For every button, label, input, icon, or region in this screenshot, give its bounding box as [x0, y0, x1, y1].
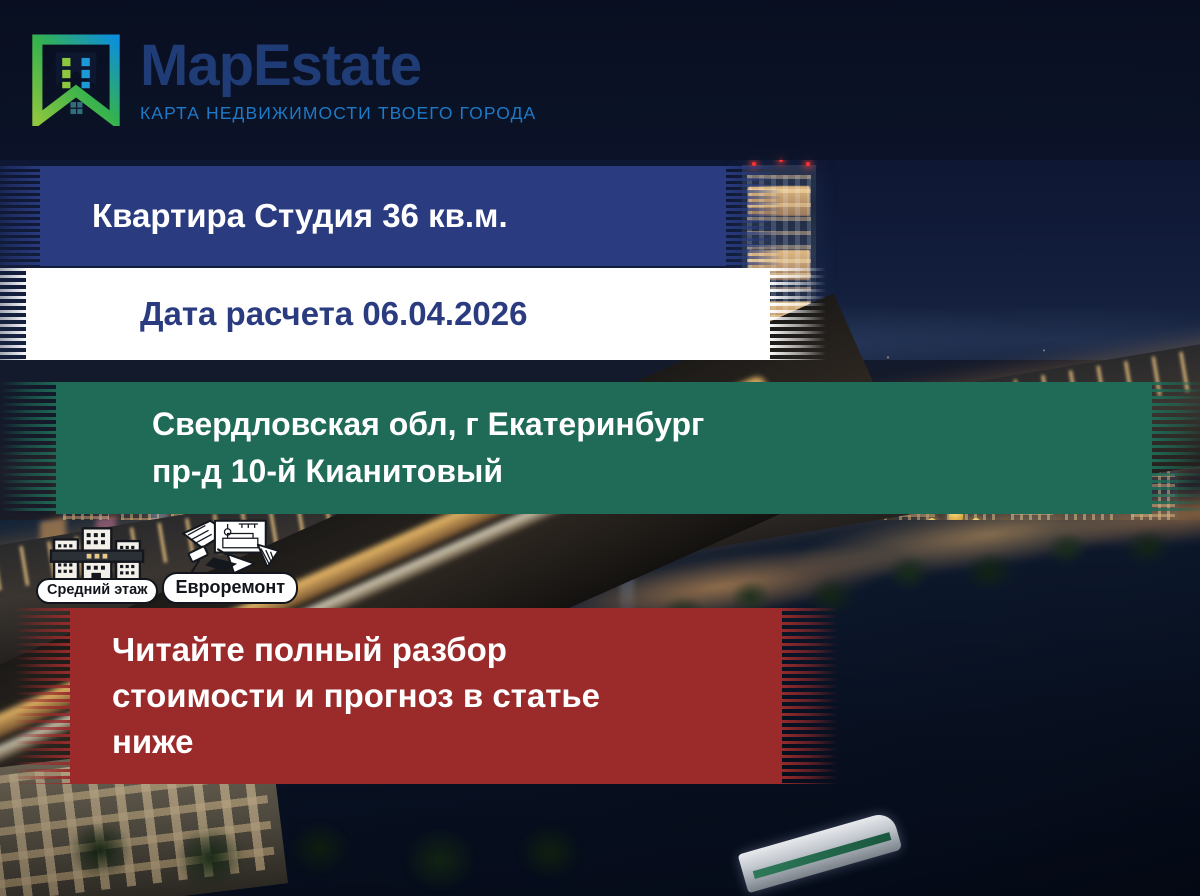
calculation-date-text: Дата расчета 06.04.2026: [140, 295, 770, 333]
cta-line-3: ниже: [112, 723, 782, 761]
address-line-street: пр-д 10-й Кианитовый: [152, 453, 1152, 490]
badge-euro-renovation[interactable]: Евроремонт: [162, 516, 298, 604]
property-banner: Квартира Студия 36 кв.м.: [40, 166, 726, 266]
badge-middle-floor[interactable]: Средний этаж: [36, 522, 158, 605]
tower-lit-floor-top: [748, 186, 810, 216]
promo-poster: MapEstate КАРТА НЕДВИЖИМОСТИ ТВОЕГО ГОРО…: [0, 0, 1200, 896]
brand-text: MapEstate КАРТА НЕДВИЖИМОСТИ ТВОЕГО ГОРО…: [140, 37, 536, 124]
tower-beacon-left: [752, 162, 756, 166]
brand-tagline: КАРТА НЕДВИЖИМОСТИ ТВОЕГО ГОРОДА: [140, 103, 536, 124]
buildings-mid-floor-icon: [49, 522, 145, 584]
feature-badges: Средний этаж: [36, 516, 298, 604]
foreground-trees: [40, 790, 600, 896]
badge-label-middle-floor: Средний этаж: [36, 578, 158, 605]
tower-beacon-right: [806, 162, 810, 166]
badge-label-euro-renovation: Евроремонт: [162, 572, 298, 604]
bookmark-building-icon: [30, 34, 122, 126]
property-title: Квартира Студия 36 кв.м.: [92, 197, 726, 235]
brand-name: MapEstate: [140, 37, 536, 95]
brand-header: MapEstate КАРТА НЕДВИЖИМОСТИ ТВОЕГО ГОРО…: [0, 0, 1200, 160]
cta-line-1: Читайте полный разбор: [112, 631, 782, 669]
address-banner: Свердловская обл, г Екатеринбург пр-д 10…: [56, 382, 1152, 514]
calculation-date-banner: Дата расчета 06.04.2026: [26, 268, 770, 360]
cta-line-2: стоимости и прогноз в статье: [112, 677, 782, 715]
renovation-tools-icon: [176, 516, 284, 578]
address-line-region-city: Свердловская обл, г Екатеринбург: [152, 406, 1152, 443]
cta-banner: Читайте полный разбор стоимости и прогно…: [70, 608, 782, 784]
